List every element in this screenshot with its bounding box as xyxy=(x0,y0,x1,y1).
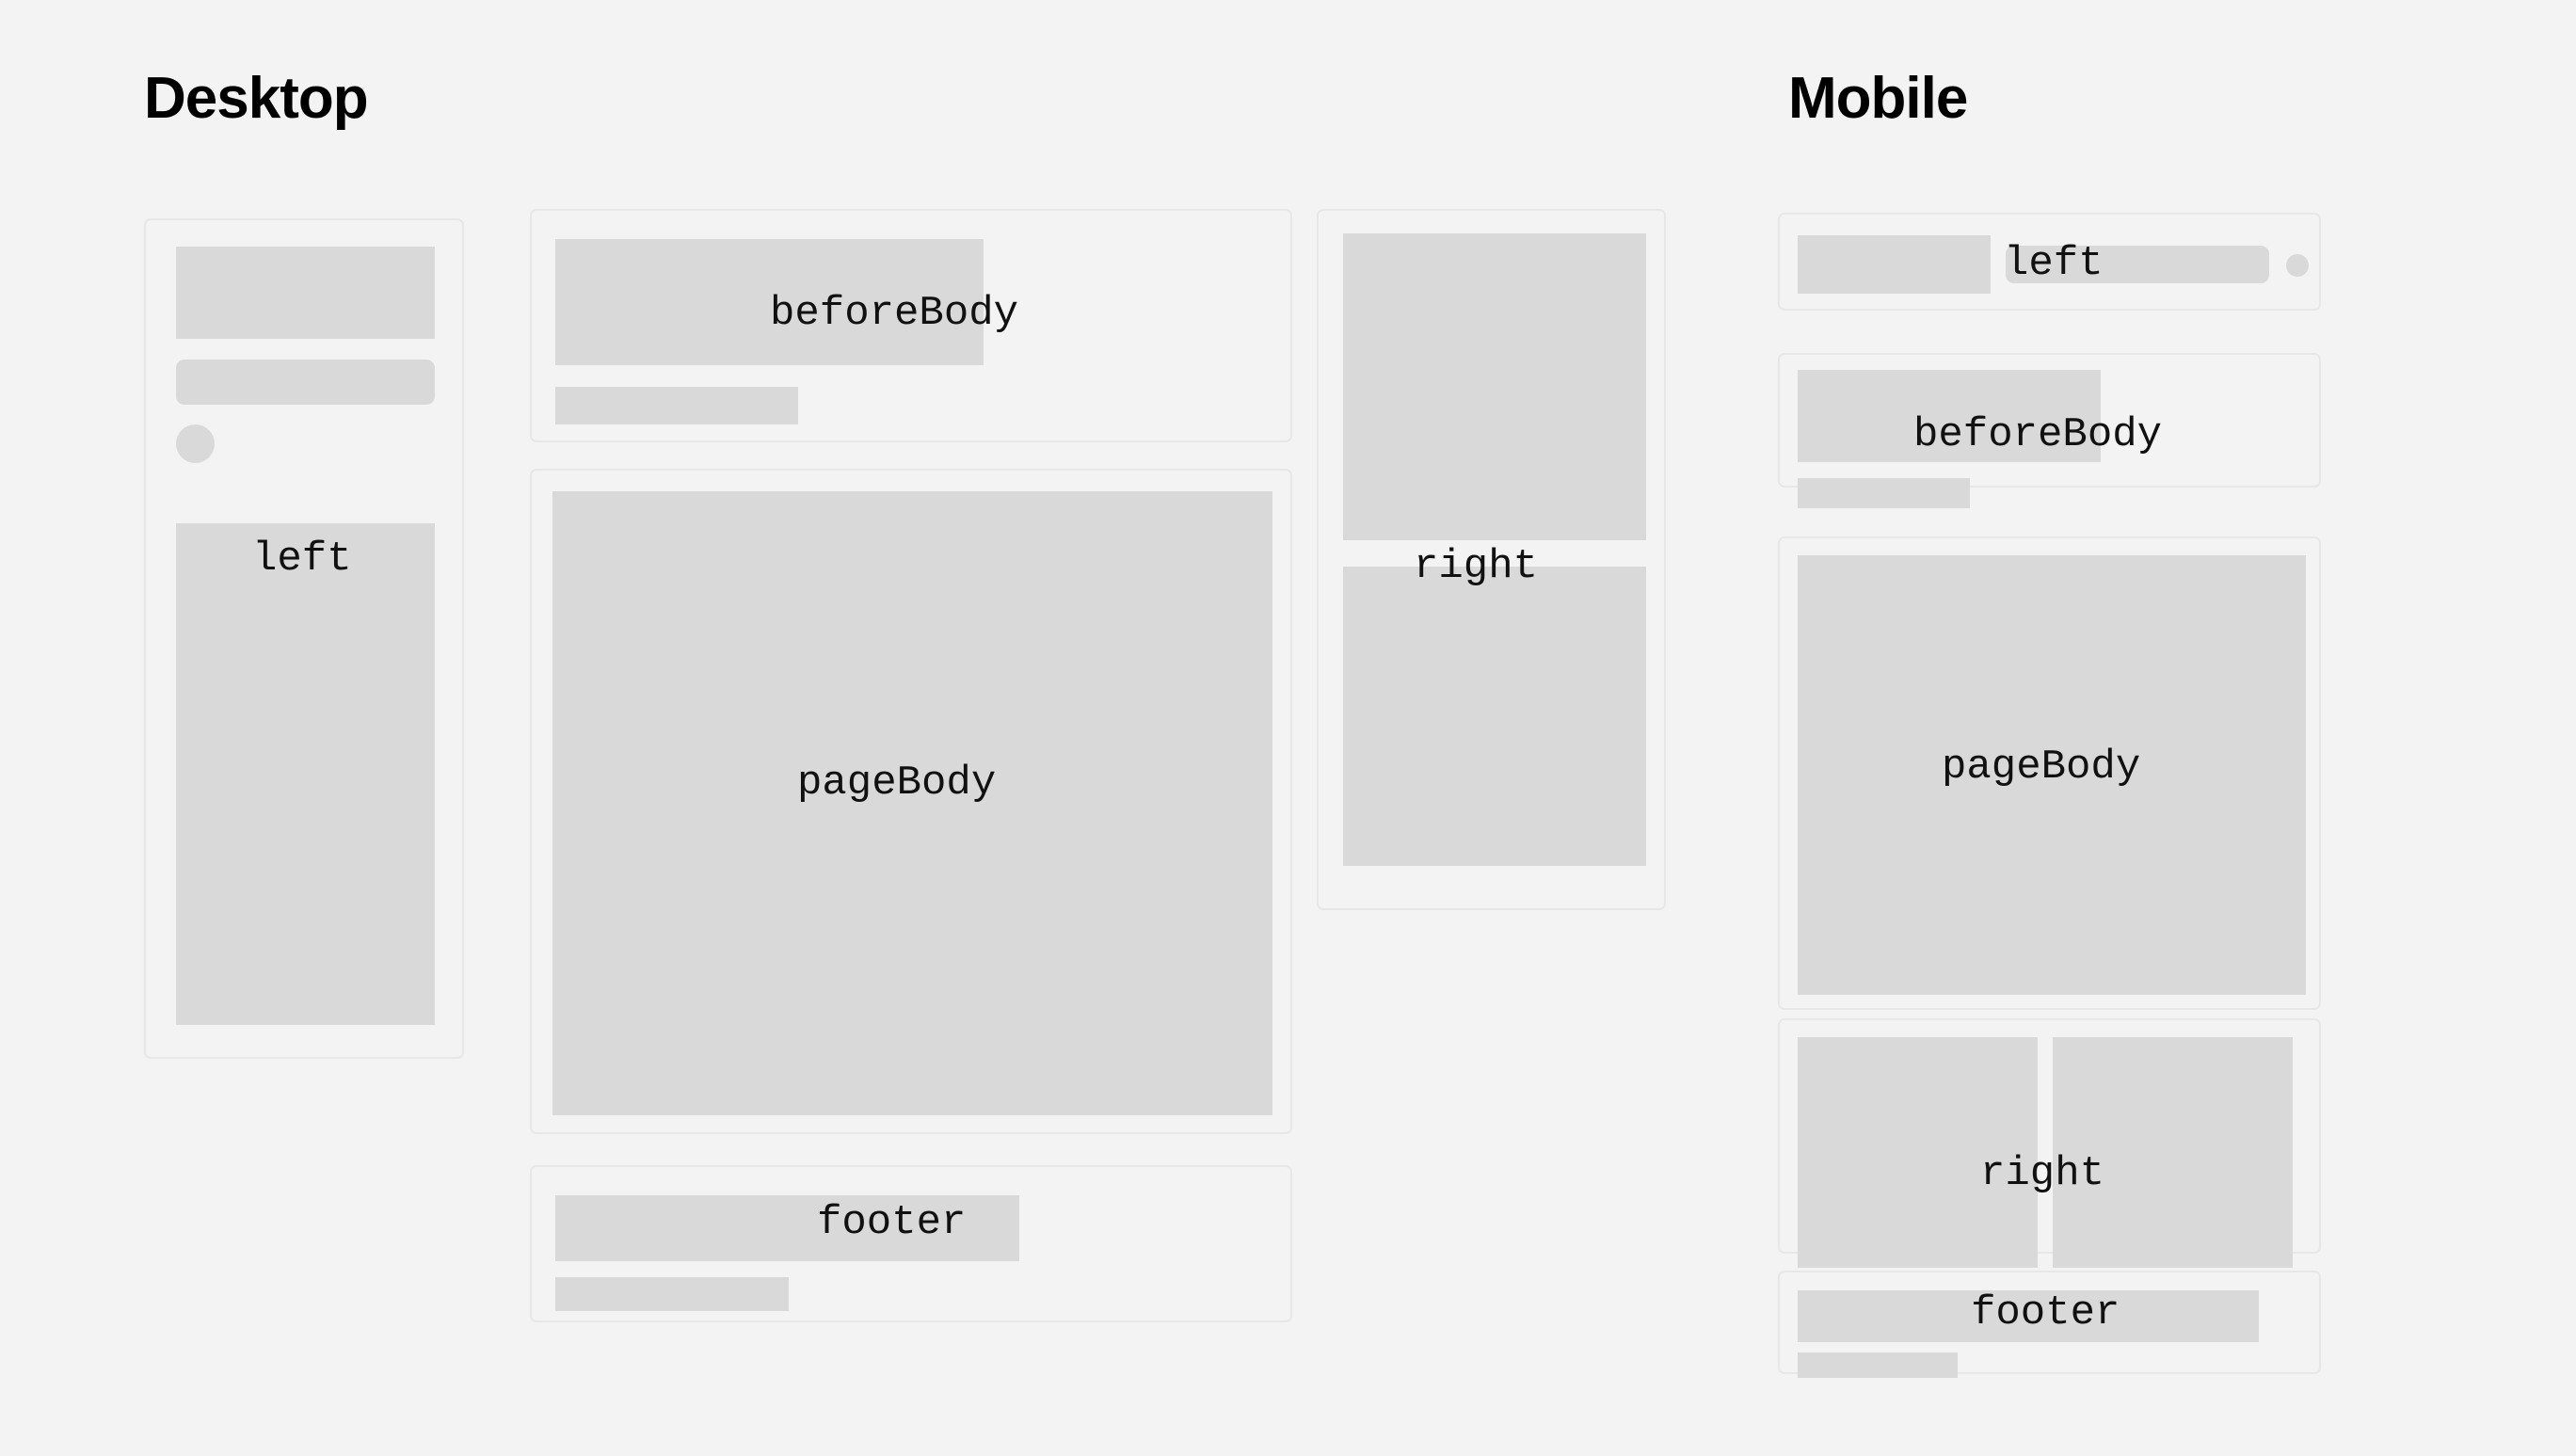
desktop-right-widget-top-block xyxy=(1343,233,1646,540)
mobile-slot-footer-panel[interactable] xyxy=(1778,1271,2321,1374)
desktop-left-nav-block xyxy=(176,523,435,1025)
mobile-right-widget-right-block xyxy=(2053,1037,2293,1268)
mobile-left-avatar-dot-icon xyxy=(2286,254,2309,277)
mobile-slot-left-panel[interactable] xyxy=(1778,213,2321,311)
mobile-left-header-block xyxy=(1798,235,1991,294)
mobile-slot-beforebody-panel[interactable] xyxy=(1778,353,2321,488)
desktop-slot-left-panel[interactable] xyxy=(144,218,464,1059)
mobile-beforebody-caption-block xyxy=(1798,478,1970,508)
desktop-slot-footer-panel[interactable] xyxy=(530,1165,1292,1322)
desktop-section-title: Desktop xyxy=(144,70,368,128)
mobile-footer-primary-block xyxy=(1798,1290,2259,1342)
desktop-footer-secondary-block xyxy=(555,1277,789,1311)
desktop-beforebody-caption-block xyxy=(555,387,798,424)
mobile-beforebody-hero-block xyxy=(1798,370,2101,462)
desktop-left-avatar-dot-icon xyxy=(176,424,215,463)
desktop-slot-pagebody-panel[interactable] xyxy=(530,469,1292,1134)
mobile-left-subheader-block xyxy=(2006,246,2269,283)
desktop-footer-primary-block xyxy=(555,1195,1019,1261)
mobile-right-widget-left-block xyxy=(1798,1037,2038,1268)
mobile-slot-right-panel[interactable] xyxy=(1778,1018,2321,1254)
mobile-section-title: Mobile xyxy=(1788,70,1967,128)
mobile-footer-secondary-block xyxy=(1798,1352,1958,1378)
desktop-slot-right-panel[interactable] xyxy=(1317,209,1666,910)
desktop-left-subheader-block xyxy=(176,360,435,405)
desktop-beforebody-hero-block xyxy=(555,239,984,365)
desktop-right-widget-bottom-block xyxy=(1343,567,1646,866)
mobile-pagebody-content-block xyxy=(1798,555,2306,995)
desktop-pagebody-content-block xyxy=(552,491,1272,1115)
mobile-slot-pagebody-panel[interactable] xyxy=(1778,536,2321,1010)
desktop-slot-beforebody-panel[interactable] xyxy=(530,209,1292,442)
desktop-left-header-block xyxy=(176,247,435,339)
